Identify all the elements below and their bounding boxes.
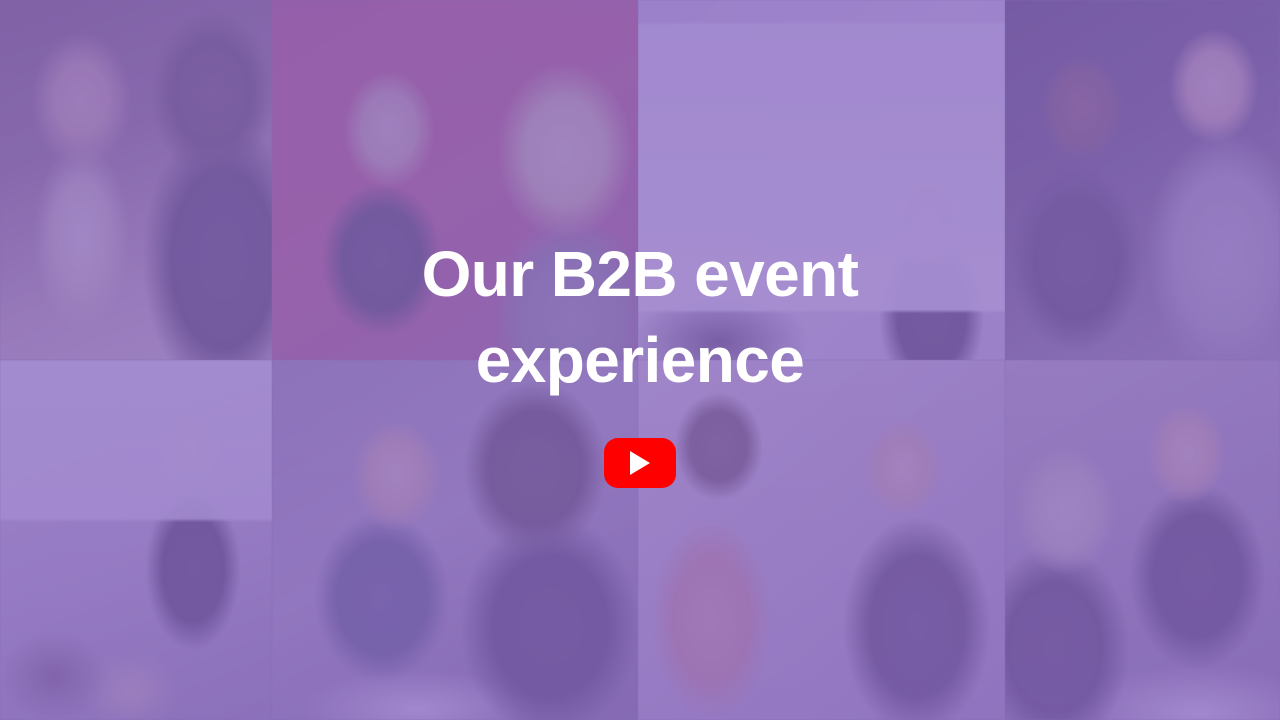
hero-content: Our B2B event experience	[0, 0, 1280, 720]
hero-title: Our B2B event experience	[330, 232, 950, 404]
play-triangle-icon	[628, 450, 652, 476]
youtube-play-button[interactable]	[604, 438, 676, 488]
video-hero-banner: Our B2B event experience	[0, 0, 1280, 720]
